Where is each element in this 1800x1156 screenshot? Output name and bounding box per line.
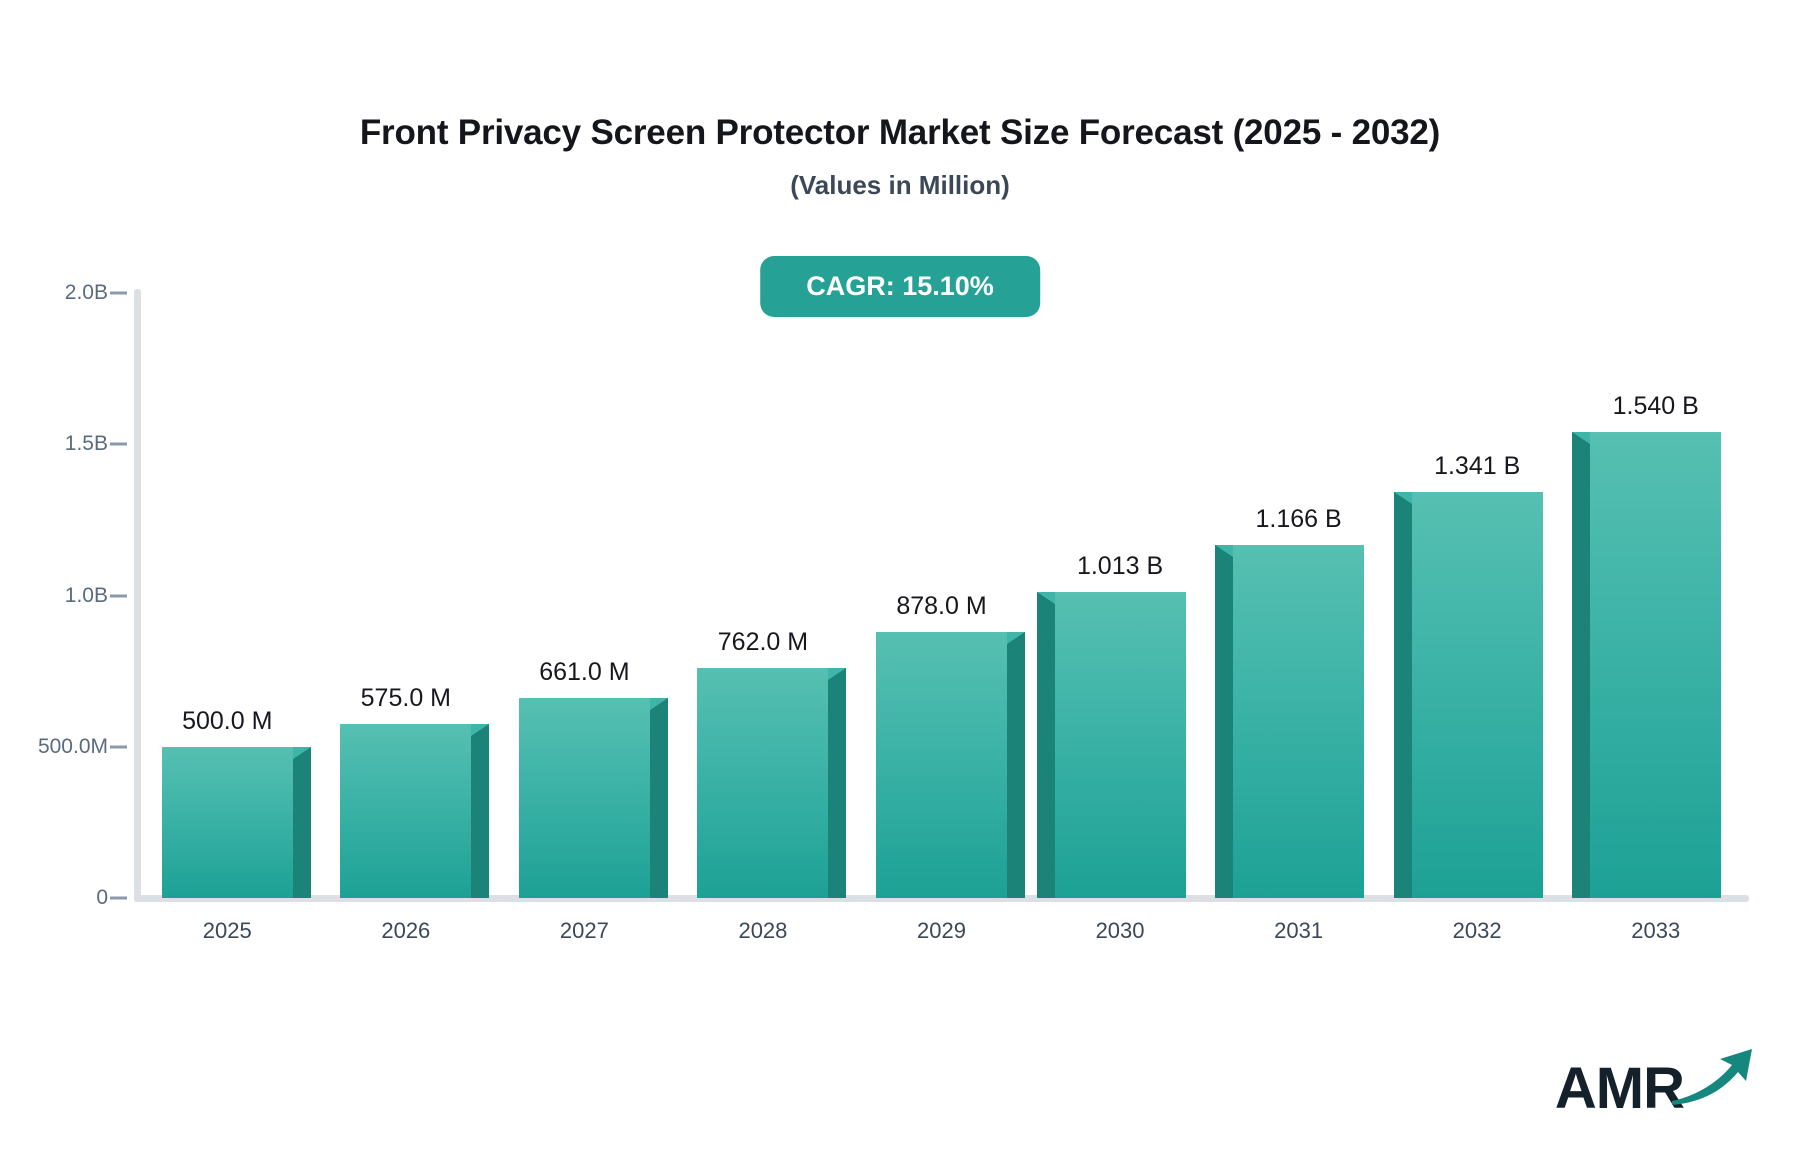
bar-top-bevel xyxy=(1215,545,1233,557)
y-tick-label: 1.0B xyxy=(65,584,108,608)
bar-side-face xyxy=(1572,444,1590,898)
bar-side-face xyxy=(1394,504,1412,898)
bar-2025[interactable]: 500.0 M xyxy=(162,747,293,898)
bar-front-face xyxy=(876,632,1007,898)
bar-top-bevel xyxy=(650,698,668,710)
bar-side-face xyxy=(471,736,489,898)
amr-logo: AMR xyxy=(1555,1045,1756,1118)
bar-side-face xyxy=(1215,557,1233,898)
bar-top-bevel xyxy=(471,724,489,736)
bar-top-bevel xyxy=(293,747,311,759)
bar-value-label: 762.0 M xyxy=(718,628,808,657)
bar-2033[interactable]: 1.540 B xyxy=(1590,432,1721,898)
y-tick-label: 1.5B xyxy=(65,432,108,456)
bar-top-bevel xyxy=(1572,432,1590,444)
amr-wordmark: AMR xyxy=(1555,1060,1684,1118)
bar-value-label: 575.0 M xyxy=(361,684,451,713)
bar-front-face xyxy=(340,724,471,898)
y-axis-line xyxy=(134,289,141,902)
bar-side-face xyxy=(650,710,668,898)
bar-side-face xyxy=(1007,644,1025,898)
bar-value-label: 1.013 B xyxy=(1077,552,1163,581)
x-tick-label-2029: 2029 xyxy=(917,918,966,944)
y-tick-label: 500.0M xyxy=(38,735,108,759)
bar-front-face xyxy=(1055,592,1186,898)
y-tick-dash xyxy=(110,443,127,446)
y-tick-dash xyxy=(110,594,127,597)
x-tick-label-2033: 2033 xyxy=(1631,918,1680,944)
bar-2030[interactable]: 1.013 B xyxy=(1055,592,1186,898)
x-tick-label-2025: 2025 xyxy=(203,918,252,944)
x-tick-label-2028: 2028 xyxy=(738,918,787,944)
x-tick-label-2027: 2027 xyxy=(560,918,609,944)
chart-canvas: Front Privacy Screen Protector Market Si… xyxy=(0,0,1800,1156)
plot-area: 0500.0M1.0B1.5B2.0B 500.0 M575.0 M661.0 … xyxy=(0,0,1800,1156)
y-tick-dash xyxy=(110,292,127,295)
bar-side-face xyxy=(293,759,311,898)
x-tick-label-2026: 2026 xyxy=(381,918,430,944)
y-tick-label: 2.0B xyxy=(65,281,108,305)
bar-front-face xyxy=(697,668,828,899)
bar-front-face xyxy=(162,747,293,898)
bar-value-label: 1.540 B xyxy=(1613,392,1699,421)
bar-front-face xyxy=(1233,545,1364,898)
x-tick-label-2031: 2031 xyxy=(1274,918,1323,944)
bar-value-label: 1.341 B xyxy=(1434,452,1520,481)
bar-top-bevel xyxy=(1037,592,1055,604)
bar-2032[interactable]: 1.341 B xyxy=(1412,492,1543,898)
bar-side-face xyxy=(828,680,846,899)
bar-2026[interactable]: 575.0 M xyxy=(340,724,471,898)
growth-arrow-icon xyxy=(1670,1045,1756,1112)
x-tick-label-2030: 2030 xyxy=(1096,918,1145,944)
bar-front-face xyxy=(1412,492,1543,898)
bar-2031[interactable]: 1.166 B xyxy=(1233,545,1364,898)
x-tick-label-2032: 2032 xyxy=(1453,918,1502,944)
bar-side-face xyxy=(1037,604,1055,898)
bar-top-bevel xyxy=(828,668,846,680)
bar-2028[interactable]: 762.0 M xyxy=(697,668,828,899)
y-tick-dash xyxy=(110,745,127,748)
bar-front-face xyxy=(1590,432,1721,898)
bar-front-face xyxy=(519,698,650,898)
bar-2027[interactable]: 661.0 M xyxy=(519,698,650,898)
bar-top-bevel xyxy=(1394,492,1412,504)
y-tick-label: 0 xyxy=(96,886,108,910)
y-tick-dash xyxy=(110,897,127,900)
bar-value-label: 500.0 M xyxy=(182,707,272,736)
bar-value-label: 1.166 B xyxy=(1256,505,1342,534)
bar-2029[interactable]: 878.0 M xyxy=(876,632,1007,898)
bar-value-label: 878.0 M xyxy=(896,592,986,621)
bar-top-bevel xyxy=(1007,632,1025,644)
bar-value-label: 661.0 M xyxy=(539,658,629,687)
